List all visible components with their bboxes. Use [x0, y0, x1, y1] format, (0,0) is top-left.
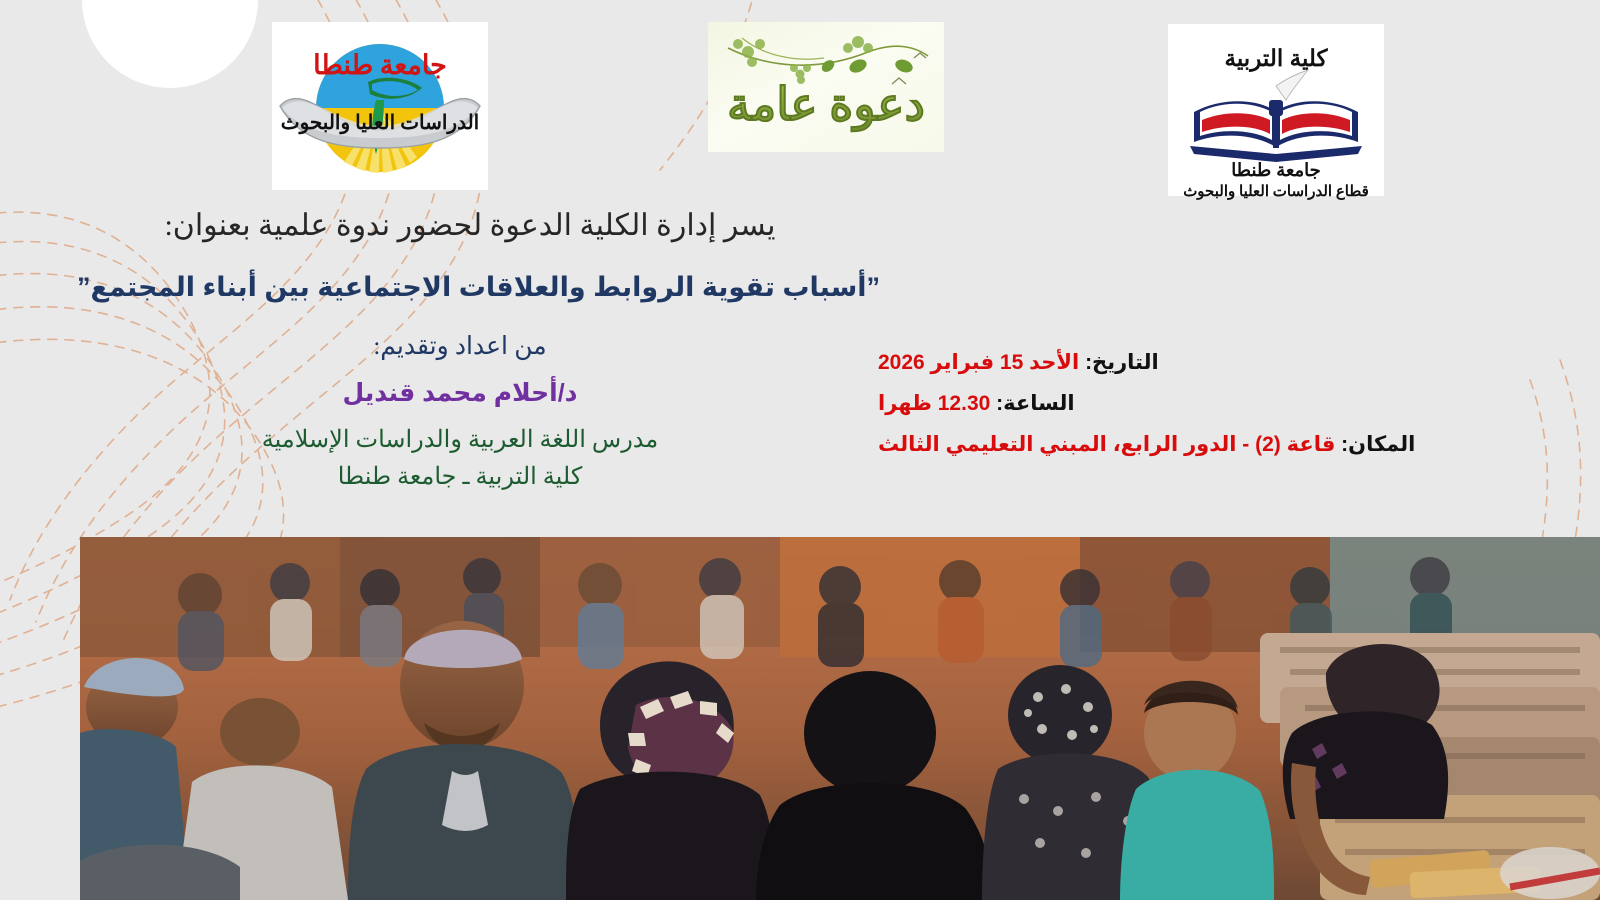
faculty-logo-caption: قطاع الدراسات العليا والبحوث: [1168, 182, 1384, 201]
event-info-row-time: الساعة: 12.30 ظهرا: [878, 393, 1518, 414]
event-place-value: قاعة (2) - الدور الرابع، المبني التعليمي…: [878, 433, 1335, 456]
event-place-label: المكان:: [1341, 433, 1415, 456]
intro-line: يسر إدارة الكلية الدعوة لحضور ندوة علمية…: [120, 208, 820, 243]
event-time-label: الساعة:: [996, 392, 1074, 415]
tanta-university-logo: جامعة طنطا TANTA UNIVERSITY الدراسات الع…: [272, 22, 488, 190]
faculty-of-education-logo: كلية التربية جامعة طنطا: [1168, 24, 1384, 196]
general-invitation-banner: دعوة عامة: [708, 22, 944, 152]
event-date-value: الأحد 15 فبراير 2026: [878, 351, 1079, 374]
event-info-row-date: التاريخ: الأحد 15 فبراير 2026: [878, 352, 1518, 373]
page-title: ”أسباب تقوية الروابط والعلاقات الاجتماعي…: [80, 272, 880, 303]
event-time-value: 12.30 ظهرا: [878, 392, 990, 415]
svg-text:دعوة عامة: دعوة عامة: [727, 79, 925, 132]
svg-text:جامعة طنطا: جامعة طنطا: [313, 50, 447, 80]
seminar-invitation-poster: جامعة طنطا TANTA UNIVERSITY الدراسات الع…: [0, 0, 1600, 900]
presenter-role: مدرس اللغة العربية والدراسات الإسلامية: [160, 425, 760, 454]
svg-text:جامعة طنطا: جامعة طنطا: [1231, 160, 1321, 180]
event-info-row-place: المكان: قاعة (2) - الدور الرابع، المبني …: [878, 434, 1518, 455]
presenter-label: من اعداد وتقديم:: [200, 331, 720, 361]
crowded-market-photo: [80, 537, 1600, 900]
decorative-circle: [82, 0, 258, 88]
presenter-name: د/أحلام محمد قنديل: [200, 378, 720, 408]
svg-text:كلية التربية: كلية التربية: [1225, 45, 1329, 73]
svg-text:الدراسات العليا والبحوث: الدراسات العليا والبحوث: [281, 112, 480, 135]
event-info-block: التاريخ: الأحد 15 فبراير 2026 الساعة: 12…: [878, 352, 1518, 455]
presenter-affiliation: كلية التربية ـ جامعة طنطا: [160, 462, 760, 491]
event-date-label: التاريخ:: [1085, 351, 1159, 374]
